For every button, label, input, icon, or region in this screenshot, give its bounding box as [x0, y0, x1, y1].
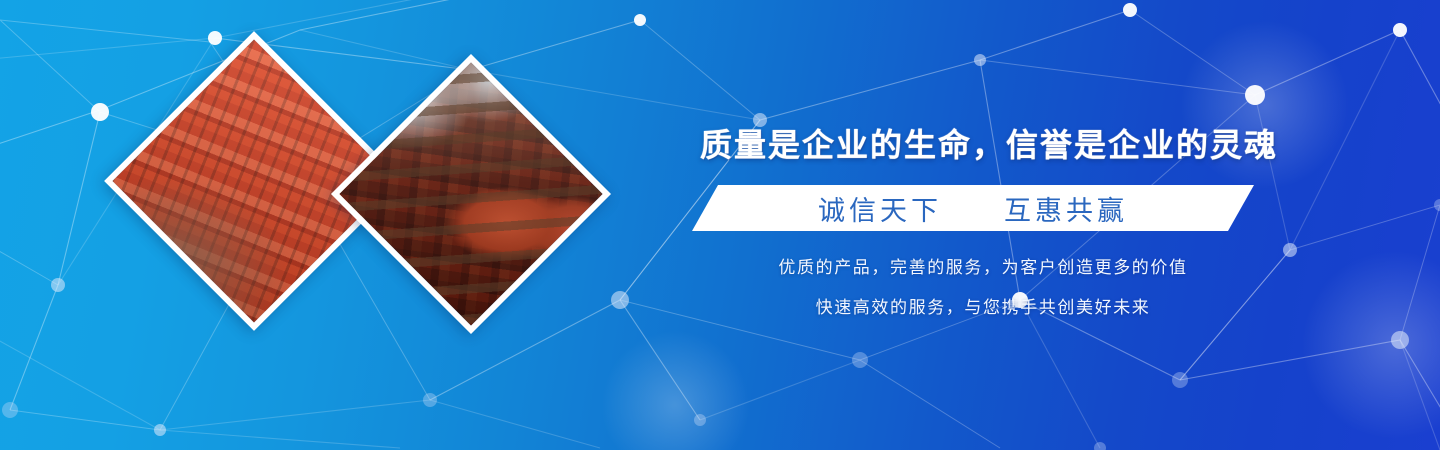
glow-decoration: [1300, 250, 1440, 440]
banner-subline-first: 优质的产品，完善的服务，为客户创造更多的价值: [700, 253, 1266, 278]
promo-banner: 质量是企业的生命，信誉是企业的灵魂 诚信天下 互惠共赢 优质的产品，完善的服务，…: [0, 0, 1440, 450]
product-photo-diamond-warehouse: [331, 54, 611, 334]
banner-copy-block: 质量是企业的生命，信誉是企业的灵魂 诚信天下 互惠共赢 优质的产品，完善的服务，…: [700, 126, 1266, 318]
banner-headline: 质量是企业的生命，信誉是企业的灵魂: [700, 126, 1266, 165]
banner-subline-second: 快速高效的服务，与您携手共创美好未来: [700, 293, 1266, 318]
slogan-ribbon: 诚信天下 互惠共赢: [692, 185, 1254, 231]
slogan-ribbon-text: 诚信天下 互惠共赢: [818, 189, 1128, 228]
glow-decoration: [600, 330, 750, 450]
photo-drive-shafts-on-pallets: [331, 54, 611, 334]
